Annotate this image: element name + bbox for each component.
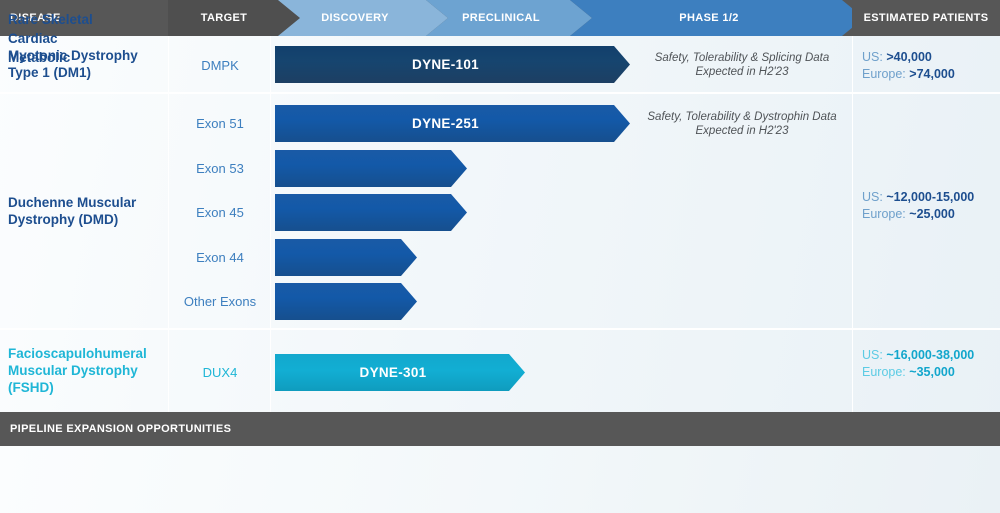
header-label-target: TARGET [201,12,248,24]
patients-dm1-eu: Europe: >74,000 [862,66,994,83]
bar-dyne-301[interactable]: DYNE-301 [275,354,525,391]
patients-dm1-us-value: >40,000 [886,50,932,64]
patients-fshd-us-value: ~16,000-38,000 [886,348,974,362]
bar-exon-45[interactable] [275,194,467,231]
bar-exon-44[interactable] [275,239,417,276]
patients-dm1-eu-label: Europe: [862,67,909,81]
header-col-target: TARGET [168,0,300,36]
patients-fshd-eu-label: Europe: [862,365,909,379]
target-label-exon-51: Exon 51 [169,116,271,131]
row-separator-dmd [0,328,1000,330]
expansion-banner-label: PIPELINE EXPANSION OPPORTUNITIES [10,423,231,435]
patients-fshd-eu-value: ~35,000 [909,365,955,379]
patients-dm1-us: US: >40,000 [862,49,994,66]
expansion-body [0,446,1000,513]
target-label-dmpk: DMPK [169,58,271,73]
patients-dmd-us: US: ~12,000-15,000 [862,189,994,206]
patients-fshd-us-label: US: [862,348,886,362]
patients-fshd-us: US: ~16,000-38,000 [862,347,994,364]
bar-label-dyne-101: DYNE-101 [412,57,479,72]
header-label-estimated-patients: ESTIMATED PATIENTS [864,12,989,24]
patients-dmd: US: ~12,000-15,000 Europe: ~25,000 [862,189,994,223]
annotation-dmd: Safety, Tolerability & Dystrophin Data E… [630,110,854,138]
bar-label-dyne-251: DYNE-251 [412,116,479,131]
row-separator-dm1 [0,92,1000,94]
patients-fshd: US: ~16,000-38,000 Europe: ~35,000 [862,347,994,381]
patients-dmd-eu-value: ~25,000 [909,207,955,221]
target-label-dux4: DUX4 [169,365,271,380]
patients-dmd-us-label: US: [862,190,886,204]
header-label-preclinical: PRECLINICAL [462,12,540,24]
disease-label-dmd: Duchenne Muscular Dystrophy (DMD) [8,194,163,228]
patients-dmd-eu: Europe: ~25,000 [862,206,994,223]
header-col-estimated-patients: ESTIMATED PATIENTS [852,0,1000,36]
patients-dm1: US: >40,000 Europe: >74,000 [862,49,994,83]
patients-dmd-eu-label: Europe: [862,207,909,221]
patients-dm1-eu-value: >74,000 [909,67,955,81]
bar-label-dyne-301: DYNE-301 [360,365,427,380]
header-col-phase12: PHASE 1/2 [570,0,864,36]
patients-dm1-us-label: US: [862,50,886,64]
target-label-other-exons: Other Exons [169,294,271,309]
disease-label-fshd: Facioscapulohumeral Muscular Dystrophy (… [8,345,163,396]
target-label-exon-44: Exon 44 [169,250,271,265]
bar-dyne-251[interactable]: DYNE-251 [275,105,630,142]
target-label-exon-45: Exon 45 [169,205,271,220]
patients-fshd-eu: Europe: ~35,000 [862,364,994,381]
expansion-items: Rare Skeletal Cardiac Metabolic [8,10,163,67]
bar-other-exons[interactable] [275,283,417,320]
pipeline-chart: DISEASE TARGET DISCOVERY PRECLINICAL PHA… [0,0,1000,513]
annotation-dm1: Safety, Tolerability & Splicing Data Exp… [634,51,850,79]
header-label-discovery: DISCOVERY [321,12,389,24]
patients-dmd-us-value: ~12,000-15,000 [886,190,974,204]
header-label-phase12: PHASE 1/2 [679,12,738,24]
header-col-discovery: DISCOVERY [278,0,448,36]
target-label-exon-53: Exon 53 [169,161,271,176]
expansion-banner: PIPELINE EXPANSION OPPORTUNITIES [0,412,1000,446]
header-col-preclinical: PRECLINICAL [426,0,592,36]
bar-exon-53[interactable] [275,150,467,187]
bar-dyne-101[interactable]: DYNE-101 [275,46,630,83]
